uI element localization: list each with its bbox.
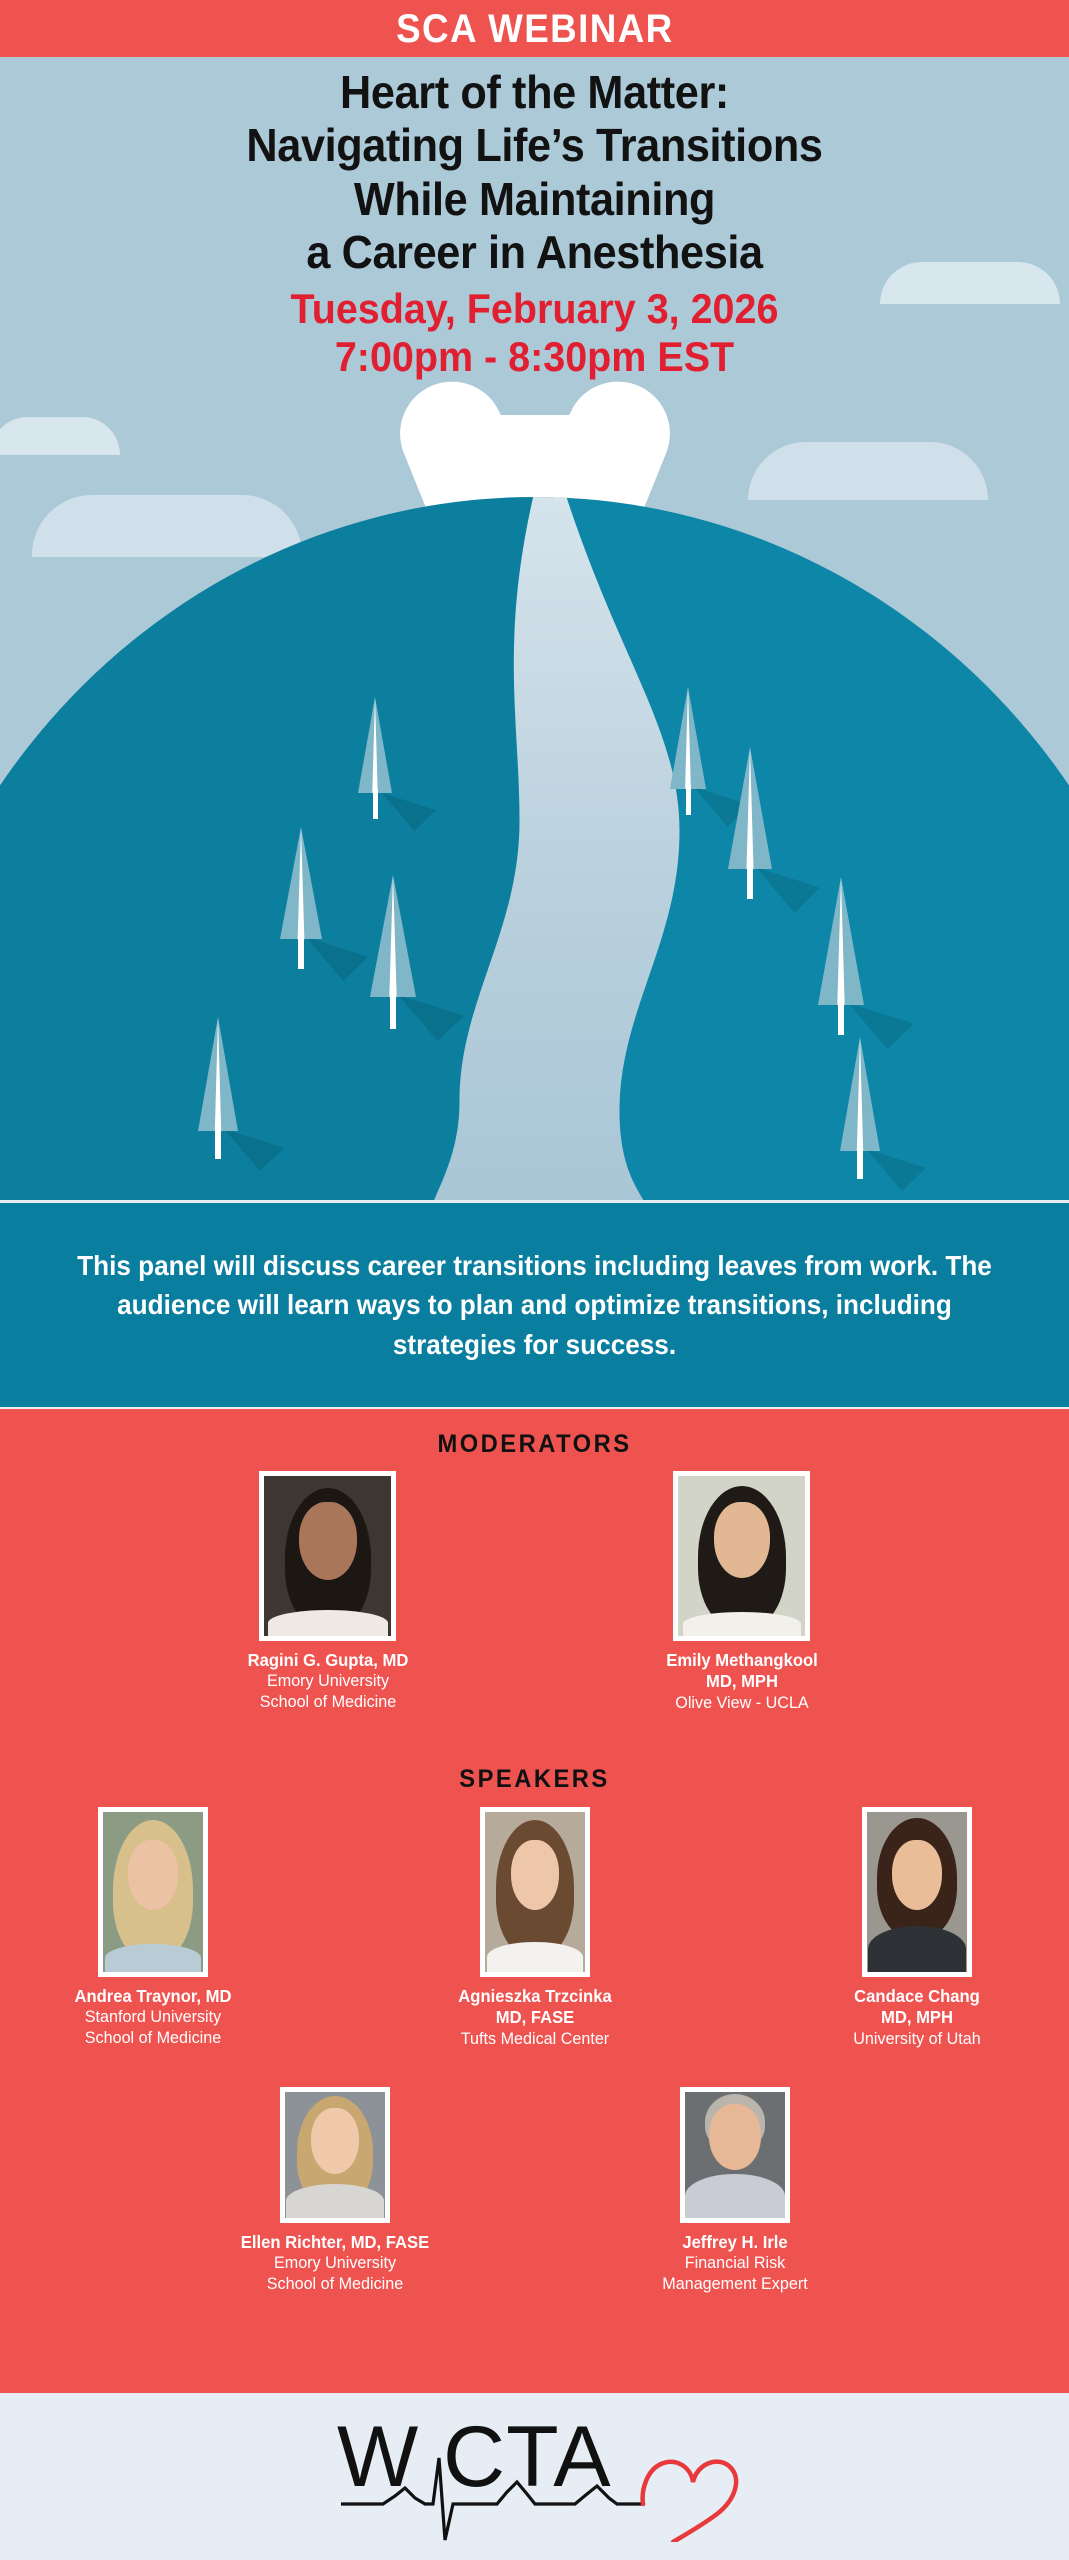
tree xyxy=(358,697,392,817)
moderator-credentials: MD, MPH xyxy=(647,1671,837,1692)
tree xyxy=(280,827,322,967)
cloud-far-left xyxy=(0,417,120,455)
moderator-affiliation-2: School of Medicine xyxy=(233,1692,423,1713)
title-line-1: Heart of the Matter: xyxy=(32,66,1037,119)
tree xyxy=(840,1037,880,1177)
speaker-name: Agnieszka Trzcinka xyxy=(440,1986,630,2007)
speaker-name: Jeffrey H. Irle xyxy=(640,2232,830,2253)
moderator-name: Emily Methangkool xyxy=(647,1650,837,1671)
headshot-emily-methangkool xyxy=(678,1476,805,1636)
globe-landscape xyxy=(0,497,1069,1200)
tree xyxy=(370,875,416,1025)
speaker-affiliation-1: University of Utah xyxy=(822,2029,1012,2050)
photo-frame xyxy=(673,1471,810,1641)
tree xyxy=(728,747,772,897)
globe-shading xyxy=(0,497,535,1200)
webinar-flyer: SCA WEBINAR xyxy=(0,0,1069,2560)
photo-frame xyxy=(680,2087,790,2223)
people-section: MODERATORS Ragini G. Gupta, MD Emory Uni… xyxy=(0,1409,1069,2393)
speaker-affiliation-1: Emory University xyxy=(240,2253,430,2274)
headshot-ellen-richter xyxy=(285,2092,385,2218)
description-text: This panel will discuss career transitio… xyxy=(76,1246,993,1363)
moderator-card: Emily Methangkool MD, MPH Olive View - U… xyxy=(642,1471,842,1713)
tree xyxy=(818,877,864,1033)
speakers-heading: SPEAKERS xyxy=(27,1765,1043,1794)
speaker-name: Ellen Richter, MD, FASE xyxy=(240,2232,430,2253)
tree xyxy=(198,1017,238,1157)
speaker-affiliation-2: School of Medicine xyxy=(240,2274,430,2295)
headshot-andrea-traynor xyxy=(103,1812,203,1972)
footer: W CTA xyxy=(0,2393,1069,2560)
cloud-right-mid xyxy=(748,442,988,500)
speaker-affiliation-1: Financial Risk xyxy=(640,2253,830,2274)
speakers-row-2: Ellen Richter, MD, FASE Emory University… xyxy=(0,2087,1069,2295)
title-block: Heart of the Matter: Navigating Life’s T… xyxy=(0,66,1069,381)
logo-wordmark-ct: CTA xyxy=(443,2412,612,2505)
headshot-candace-chang xyxy=(867,1812,967,1972)
speaker-credentials: MD, FASE xyxy=(440,2007,630,2028)
moderator-affiliation-1: Olive View - UCLA xyxy=(647,1693,837,1714)
speaker-name: Candace Chang xyxy=(822,1986,1012,2007)
banner-label: SCA WEBINAR xyxy=(396,9,674,49)
speaker-affiliation-2: Management Expert xyxy=(640,2274,830,2295)
speaker-affiliation-1: Tufts Medical Center xyxy=(440,2029,630,2050)
tree xyxy=(670,687,706,813)
speaker-card: Ellen Richter, MD, FASE Emory University… xyxy=(235,2087,435,2295)
title-line-2: Navigating Life’s Transitions xyxy=(32,119,1037,172)
photo-frame xyxy=(98,1807,208,1977)
moderators-heading: MODERATORS xyxy=(27,1430,1043,1459)
headshot-ragini-gupta xyxy=(264,1476,391,1636)
heart-outline-icon xyxy=(642,2461,736,2541)
speaker-card: Agnieszka Trzcinka MD, FASE Tufts Medica… xyxy=(435,1807,635,2049)
speaker-card: Jeffrey H. Irle Financial Risk Managemen… xyxy=(635,2087,835,2295)
moderator-name: Ragini G. Gupta, MD xyxy=(233,1650,423,1671)
speaker-card: Candace Chang MD, MPH University of Utah xyxy=(817,1807,1017,2049)
photo-frame xyxy=(280,2087,390,2223)
title-line-4: a Career in Anesthesia xyxy=(32,226,1037,279)
moderator-card: Ragini G. Gupta, MD Emory University Sch… xyxy=(228,1471,428,1713)
headshot-agnieszka-trzcinka xyxy=(485,1812,585,1972)
photo-frame xyxy=(259,1471,396,1641)
photo-frame xyxy=(862,1807,972,1977)
speaker-affiliation-2: School of Medicine xyxy=(58,2028,248,2049)
moderators-row: Ragini G. Gupta, MD Emory University Sch… xyxy=(0,1471,1069,1713)
photo-frame xyxy=(480,1807,590,1977)
speaker-card: Andrea Traynor, MD Stanford University S… xyxy=(53,1807,253,2049)
title-line-3: While Maintaining xyxy=(32,173,1037,226)
event-time: 7:00pm - 8:30pm EST xyxy=(32,333,1037,381)
top-banner: SCA WEBINAR xyxy=(0,0,1069,57)
event-date: Tuesday, February 3, 2026 xyxy=(32,285,1037,333)
speakers-row-1: Andrea Traynor, MD Stanford University S… xyxy=(0,1807,1069,2049)
headshot-jeffrey-irle xyxy=(685,2092,785,2218)
moderator-affiliation-1: Emory University xyxy=(233,1671,423,1692)
speaker-name: Andrea Traynor, MD xyxy=(58,1986,248,2007)
speaker-credentials: MD, MPH xyxy=(822,2007,1012,2028)
description-band: This panel will discuss career transitio… xyxy=(0,1203,1069,1407)
speaker-affiliation-1: Stanford University xyxy=(58,2007,248,2028)
wicta-logo-ecg-heart: W CTA xyxy=(325,2412,745,2542)
